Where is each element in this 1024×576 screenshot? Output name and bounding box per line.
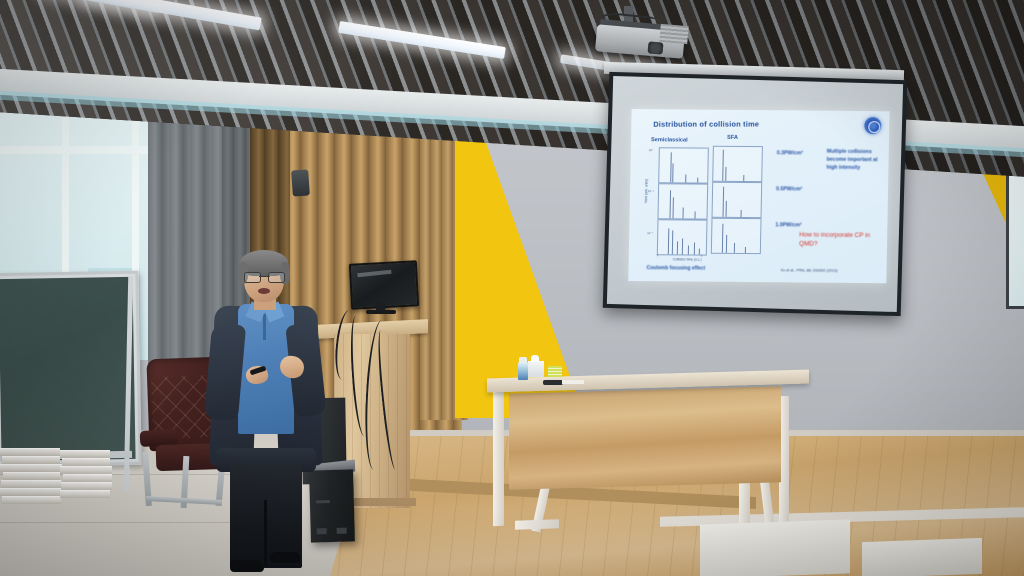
tissue-box bbox=[528, 361, 544, 377]
slide-citation: Xu et al., PRA, 88, 033402 (2013) bbox=[780, 268, 837, 272]
slide-bottom-label: Coulomb focusing effect bbox=[646, 265, 705, 272]
plot-panel bbox=[658, 147, 709, 183]
plot-x-tick: 3 bbox=[701, 254, 703, 258]
shoe-right bbox=[270, 552, 300, 563]
floor-panel-right bbox=[862, 538, 982, 576]
slide-plot-grid: Yield (arb. units) Collision time (o.c.) bbox=[645, 145, 772, 258]
papers bbox=[562, 380, 584, 384]
light-wood-table bbox=[487, 374, 809, 544]
remote-control bbox=[543, 380, 563, 385]
water-bottle bbox=[518, 362, 528, 380]
shirt-placket bbox=[263, 314, 266, 340]
shoe-left bbox=[230, 560, 264, 572]
plot-y-tick: 10⁻² bbox=[648, 189, 654, 193]
projector-vent bbox=[659, 24, 688, 44]
projector-lens-icon bbox=[648, 41, 664, 54]
plot-panel bbox=[657, 183, 708, 219]
slide-intensity-label: 1.0PW/cm² bbox=[775, 222, 801, 228]
slide-intensity-label: 0.5PW/cm² bbox=[776, 186, 802, 192]
plot-x-tick: 0 bbox=[657, 253, 659, 257]
slide-note: Multiple collisions become important at … bbox=[826, 149, 888, 173]
trouser-seam bbox=[264, 500, 267, 566]
slide-column-header-sfa: SFA bbox=[727, 135, 738, 141]
water-bottle-cap bbox=[519, 357, 527, 363]
plot-panel bbox=[712, 146, 763, 182]
wall-speaker bbox=[291, 169, 310, 196]
plot-panel bbox=[712, 182, 763, 218]
projected-slide: Distribution of collision time Semiclass… bbox=[628, 109, 889, 283]
slide-intensity-label: 0.3PW/cm² bbox=[777, 150, 803, 156]
note-pad bbox=[548, 366, 562, 377]
presenter bbox=[206, 250, 328, 576]
slide-title: Distribution of collision time bbox=[653, 120, 759, 129]
green-chalkboard bbox=[0, 271, 142, 468]
stacked-books bbox=[0, 448, 128, 516]
slide-column-header-semiclassical: Semiclassical bbox=[651, 137, 688, 143]
university-seal-icon bbox=[864, 117, 881, 134]
plot-panel bbox=[711, 218, 762, 254]
plot-panel bbox=[657, 219, 708, 255]
glasses-icon bbox=[244, 272, 285, 281]
slide-question: How to incorporate CP in QMD? bbox=[799, 230, 887, 249]
plot-x-axis-label: Collision time (o.c.) bbox=[673, 257, 702, 261]
lecture-hall-photo: Distribution of collision time Semiclass… bbox=[0, 0, 1024, 576]
mouth bbox=[258, 288, 270, 294]
plot-y-tick: 10⁻⁴ bbox=[647, 231, 653, 235]
tissue-sheet bbox=[531, 355, 539, 362]
plot-y-tick: 10⁰ bbox=[649, 148, 653, 152]
projection-screen: Distribution of collision time Semiclass… bbox=[603, 72, 907, 316]
podium-monitor[interactable] bbox=[350, 262, 414, 312]
floor-panel bbox=[700, 519, 850, 576]
